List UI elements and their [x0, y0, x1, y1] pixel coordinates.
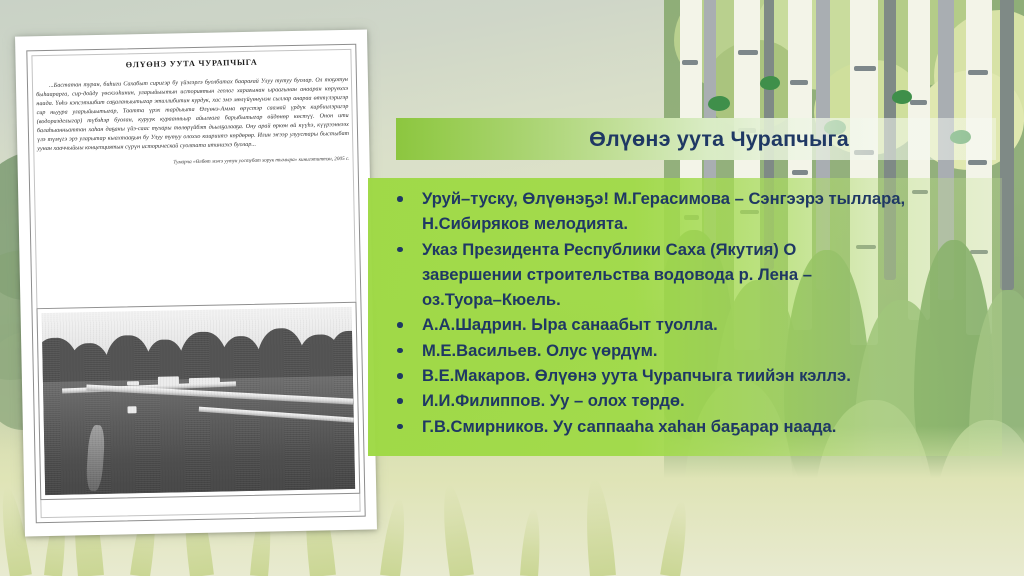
bullet-line: В.Е.Макаров. Өлүөнэ уута Чурапчыга тиийэ… [422, 363, 992, 388]
bullet-line: завершении строительства водовода р. Лен… [422, 262, 992, 287]
document-caption: Тумарча «Өлбөт мэҥэ уутун уостубат хорук… [38, 156, 350, 170]
bullet-item: В.Е.Макаров. Өлүөнэ уута Чурапчыга тиийэ… [382, 363, 992, 388]
bullet-line: Н.Сибиряков мелодията. [422, 211, 992, 236]
pipeline-photo [42, 307, 356, 495]
bullet-item: Уруй–туску, Өлүөнэҕэ! М.Герасимова – Сэн… [382, 186, 992, 237]
bullet-line: оз.Туора–Кюель. [422, 287, 992, 312]
presentation-slide: ӨЛҮӨНЭ УУТА ЧУРАПЧЫГА ...Бастатан туран,… [0, 0, 1024, 576]
scanned-document-image: ӨЛҮӨНЭ УУТА ЧУРАПЧЫГА ...Бастатан туран,… [15, 30, 377, 537]
bullet-line: А.А.Шадрин. Ыра санаабыт туолла. [422, 312, 992, 337]
document-photo-frame [36, 302, 360, 500]
bullet-item: М.Е.Васильев. Олус үөрдүм. [382, 338, 992, 363]
bullet-list: Уруй–туску, Өлүөнэҕэ! М.Герасимова – Сэн… [382, 186, 992, 439]
document-paragraph: ...Бастатан туран, биһиги Сахабыт сиригэ… [36, 76, 349, 154]
bullet-line: Указ Президента Республики Саха (Якутия)… [422, 237, 992, 262]
bullet-item: Г.В.Смирников. Уу саппааһа хаһан баҕарар… [382, 414, 992, 439]
page-title: Өлүөнэ уута Чурапчыга [543, 127, 849, 152]
bullet-line: М.Е.Васильев. Олус үөрдүм. [422, 338, 992, 363]
bullet-item: Указ Президента Республики Саха (Якутия)… [382, 237, 992, 313]
bullet-line: Уруй–туску, Өлүөнэҕэ! М.Герасимова – Сэн… [422, 186, 992, 211]
slide-title-banner: Өлүөнэ уута Чурапчыга [396, 118, 996, 160]
bullet-line: Г.В.Смирников. Уу саппааһа хаһан баҕарар… [422, 414, 992, 439]
bullet-line: И.И.Филиппов. Уу – олох төрдө. [422, 388, 992, 413]
slide-content-block: Уруй–туску, Өлүөнэҕэ! М.Герасимова – Сэн… [368, 178, 1002, 456]
bullet-item: И.И.Филиппов. Уу – олох төрдө. [382, 388, 992, 413]
bullet-item: А.А.Шадрин. Ыра санаабыт туолла. [382, 312, 992, 337]
